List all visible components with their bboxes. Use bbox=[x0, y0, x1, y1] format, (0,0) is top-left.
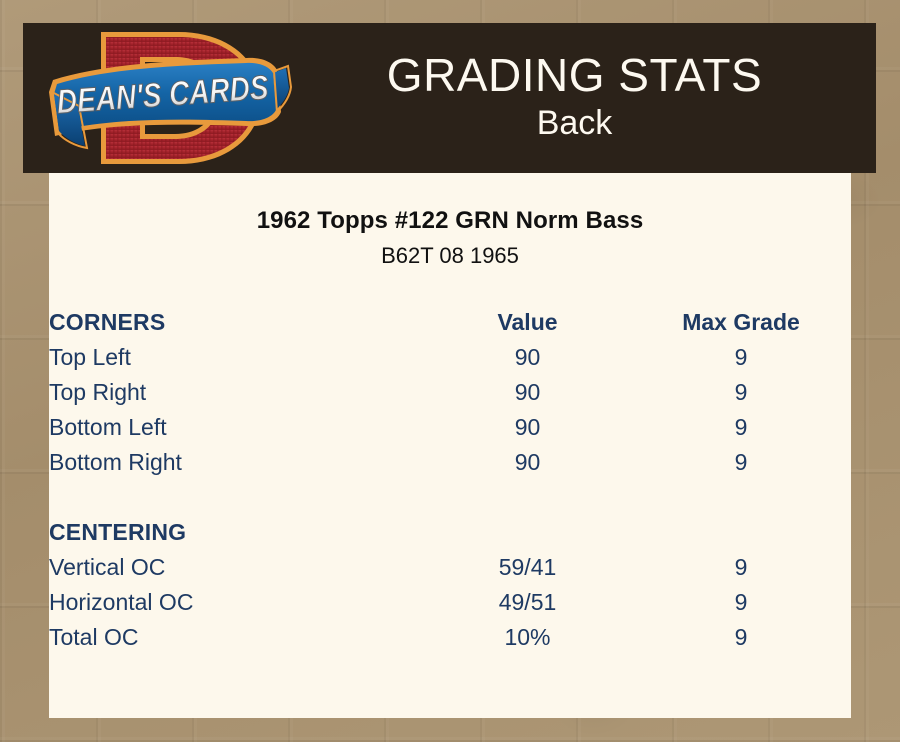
section-heading-corners: CORNERS bbox=[49, 305, 424, 340]
table-row: Top Left 90 9 bbox=[49, 340, 851, 375]
section-spacer bbox=[49, 480, 851, 515]
stat-value: 49/51 bbox=[424, 585, 631, 620]
table-row: Bottom Left 90 9 bbox=[49, 410, 851, 445]
stat-value: 90 bbox=[424, 375, 631, 410]
card-title: 1962 Topps #122 GRN Norm Bass bbox=[49, 205, 851, 237]
stat-value: 59/41 bbox=[424, 550, 631, 585]
page-subtitle: Back bbox=[303, 102, 846, 144]
grading-stats-table: CORNERS Value Max Grade Top Left 90 9 To… bbox=[49, 305, 851, 655]
stat-max-grade: 9 bbox=[631, 620, 851, 655]
card-subtitle: B62T 08 1965 bbox=[49, 241, 851, 271]
stat-value: 10% bbox=[424, 620, 631, 655]
stat-max-grade: 9 bbox=[631, 445, 851, 480]
table-row: Bottom Right 90 9 bbox=[49, 445, 851, 480]
content-panel: 1962 Topps #122 GRN Norm Bass B62T 08 19… bbox=[49, 173, 851, 718]
stat-label: Bottom Left bbox=[49, 410, 424, 445]
stat-label: Horizontal OC bbox=[49, 585, 424, 620]
stat-label: Bottom Right bbox=[49, 445, 424, 480]
deans-cards-logo: DEAN'S CARDS bbox=[41, 26, 303, 171]
column-header-max-grade: Max Grade bbox=[631, 305, 851, 340]
stat-max-grade: 9 bbox=[631, 375, 851, 410]
section-header-row-corners: CORNERS Value Max Grade bbox=[49, 305, 851, 340]
stat-max-grade: 9 bbox=[631, 410, 851, 445]
table-row: Total OC 10% 9 bbox=[49, 620, 851, 655]
stat-label: Total OC bbox=[49, 620, 424, 655]
stat-label: Vertical OC bbox=[49, 550, 424, 585]
header-titles: GRADING STATS Back bbox=[303, 48, 876, 144]
stat-value: 90 bbox=[424, 445, 631, 480]
stat-value: 90 bbox=[424, 340, 631, 375]
stat-max-grade: 9 bbox=[631, 585, 851, 620]
section-header-row-centering: CENTERING bbox=[49, 515, 851, 550]
table-row: Top Right 90 9 bbox=[49, 375, 851, 410]
stat-label: Top Right bbox=[49, 375, 424, 410]
page-title: GRADING STATS bbox=[303, 48, 846, 102]
section-heading-centering: CENTERING bbox=[49, 515, 424, 550]
stat-label: Top Left bbox=[49, 340, 424, 375]
column-header-value: Value bbox=[424, 305, 631, 340]
header-bar: DEAN'S CARDS GRADING STATS Back bbox=[23, 23, 876, 173]
stat-max-grade: 9 bbox=[631, 340, 851, 375]
table-row: Horizontal OC 49/51 9 bbox=[49, 585, 851, 620]
stat-max-grade: 9 bbox=[631, 550, 851, 585]
table-row: Vertical OC 59/41 9 bbox=[49, 550, 851, 585]
stat-value: 90 bbox=[424, 410, 631, 445]
